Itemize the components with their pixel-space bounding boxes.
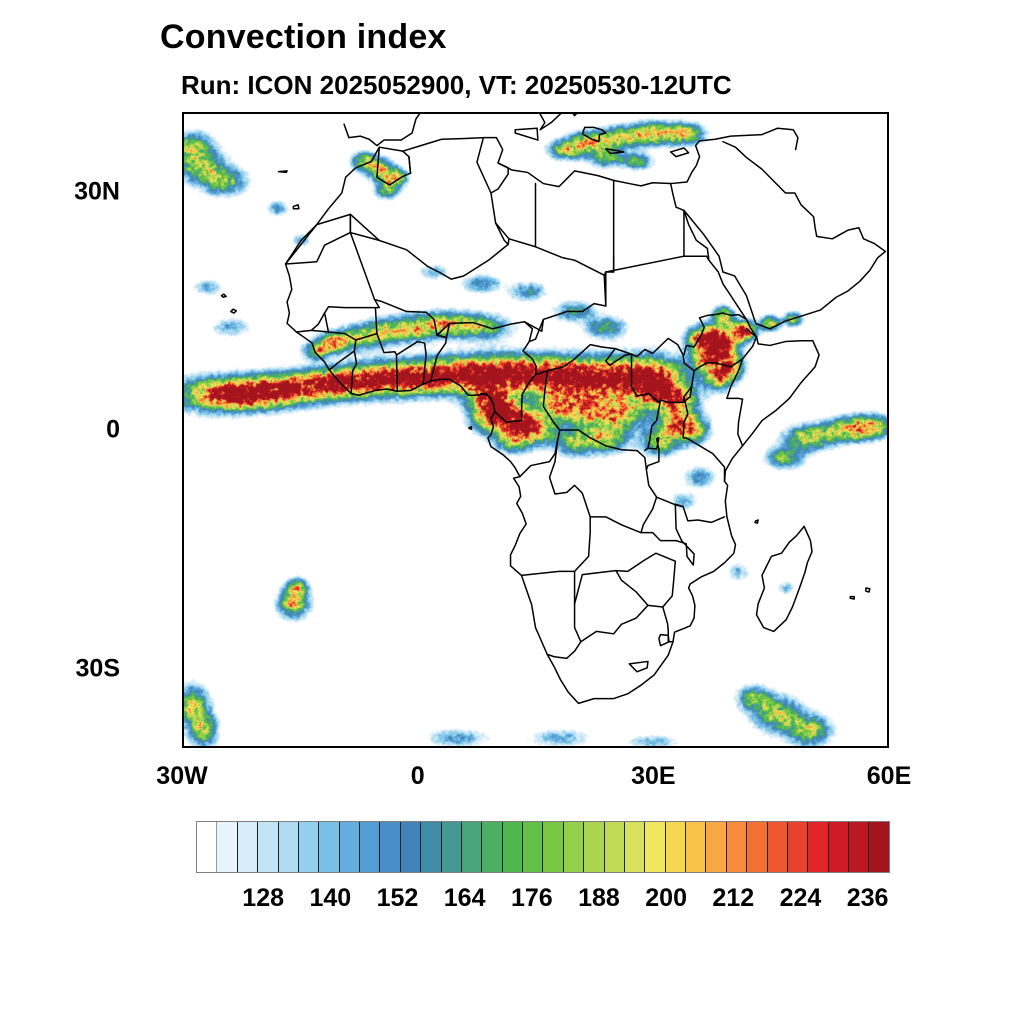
x-axis-label: 60E <box>867 762 911 791</box>
colorbar-cell <box>482 822 502 872</box>
y-major-tick <box>182 432 184 434</box>
y-minor-tick-right <box>887 512 889 514</box>
y-major-tick-right <box>887 671 889 673</box>
map-outline <box>575 571 616 604</box>
colorbar-cell <box>462 822 482 872</box>
map-outline <box>221 294 226 297</box>
y-axis-label: 0 <box>106 416 120 445</box>
map-outline <box>351 340 356 394</box>
x-minor-tick <box>263 746 265 748</box>
map-outline <box>481 394 487 395</box>
map-outline <box>606 149 624 154</box>
colorbar-cell <box>401 822 421 872</box>
chart-subtitle: Run: ICON 2025052900, VT: 20250530-12UTC <box>181 70 732 101</box>
y-major-tick <box>182 671 184 673</box>
x-minor-tick <box>341 746 343 748</box>
colorbar-cell <box>645 822 665 872</box>
colorbar-cell <box>217 822 237 872</box>
figure-root: Convection index Run: ICON 2025052900, V… <box>0 0 1024 1024</box>
x-major-tick <box>184 746 186 748</box>
map-outline <box>496 223 605 275</box>
colorbar-cell <box>421 822 441 872</box>
x-minor-tick-top <box>341 112 343 114</box>
y-axis-label: 30N <box>74 177 120 206</box>
colorbar-cell <box>380 822 400 872</box>
colorbar-cell <box>360 822 380 872</box>
map-outline <box>311 330 328 332</box>
x-major-tick <box>420 746 422 748</box>
x-minor-tick <box>577 746 579 748</box>
map-outline <box>520 371 560 477</box>
map-outline <box>325 313 377 340</box>
y-minor-tick-right <box>887 591 889 593</box>
map-outline <box>279 171 288 173</box>
y-axis-label: 30S <box>76 654 120 683</box>
colorbar <box>196 821 890 873</box>
colorbar-cell <box>686 822 706 872</box>
x-minor-tick <box>498 746 500 748</box>
y-minor-tick <box>182 591 184 593</box>
map-plot-area <box>182 112 889 748</box>
map-outline <box>684 142 885 329</box>
colorbar-cell <box>605 822 625 872</box>
colorbar-cell <box>238 822 258 872</box>
x-minor-tick-top <box>812 112 814 114</box>
x-minor-tick-top <box>734 112 736 114</box>
x-major-tick-top <box>655 112 657 114</box>
x-minor-tick <box>734 746 736 748</box>
y-minor-tick <box>182 273 184 275</box>
map-outline <box>671 148 689 157</box>
colorbar-cell <box>727 822 747 872</box>
map-outline <box>646 438 659 470</box>
map-outline <box>550 442 591 517</box>
country-borders-overlay <box>184 114 887 746</box>
y-major-tick-right <box>887 194 889 196</box>
map-outline <box>567 114 622 116</box>
colorbar-cell <box>340 822 360 872</box>
y-major-tick <box>182 194 184 196</box>
x-minor-tick <box>812 746 814 748</box>
colorbar-tick-label: 152 <box>377 884 419 913</box>
y-minor-tick <box>182 512 184 514</box>
map-outline <box>344 114 443 146</box>
colorbar-cell <box>849 822 869 872</box>
colorbar-cell <box>625 822 645 872</box>
map-outline <box>521 430 656 575</box>
map-outline <box>671 128 798 183</box>
y-minor-tick-right <box>887 353 889 355</box>
map-outline <box>641 533 676 541</box>
map-outline <box>683 397 724 482</box>
map-outline <box>700 313 747 319</box>
map-outline <box>850 597 854 599</box>
map-outline <box>606 256 707 272</box>
x-minor-tick-top <box>498 112 500 114</box>
x-axis-label: 30W <box>156 762 207 791</box>
map-outline <box>469 427 471 429</box>
colorbar-cell <box>584 822 604 872</box>
x-major-tick <box>655 746 657 748</box>
colorbar-tick-label: 140 <box>309 884 351 913</box>
colorbar-cell <box>503 822 523 872</box>
colorbar-cell <box>258 822 278 872</box>
colorbar-cell <box>523 822 543 872</box>
colorbar-tick-label: 200 <box>645 884 687 913</box>
colorbar-cell <box>319 822 339 872</box>
map-outline <box>616 553 675 607</box>
y-major-tick-right <box>887 432 889 434</box>
colorbar-tick-label: 128 <box>242 884 284 913</box>
map-outline <box>738 399 743 446</box>
map-outline <box>525 272 606 331</box>
map-outline <box>231 309 236 313</box>
colorbar-tick-label: 236 <box>847 884 889 913</box>
map-outline <box>515 128 538 140</box>
colorbar-cell <box>788 822 808 872</box>
y-minor-tick <box>182 353 184 355</box>
colorbar-tick-label: 164 <box>444 884 486 913</box>
map-outline <box>443 114 562 130</box>
map-outline <box>866 588 870 592</box>
map-outline <box>396 342 426 385</box>
map-outline <box>377 147 411 185</box>
colorbar-tick-label: 188 <box>578 884 620 913</box>
colorbar-tick-label: 224 <box>780 884 822 913</box>
map-outline <box>606 338 694 402</box>
colorbar-cell <box>279 822 299 872</box>
map-outline <box>375 308 397 391</box>
colorbar-cell <box>768 822 788 872</box>
map-outline <box>409 157 411 174</box>
colorbar-tick-label: 212 <box>712 884 754 913</box>
x-minor-tick-top <box>577 112 579 114</box>
colorbar-cell <box>666 822 686 872</box>
map-outline <box>508 239 509 245</box>
map-outline <box>629 661 648 671</box>
map-outline <box>329 351 354 370</box>
x-major-tick-top <box>420 112 422 114</box>
map-outline <box>582 127 605 141</box>
x-minor-tick-top <box>263 112 265 114</box>
map-outline <box>350 138 508 279</box>
colorbar-cell <box>869 822 888 872</box>
colorbar-tick-label: 176 <box>511 884 553 913</box>
map-outline <box>606 256 614 272</box>
chart-title: Convection index <box>160 18 447 57</box>
map-outline <box>684 318 704 355</box>
x-major-tick-top <box>184 112 186 114</box>
map-outline <box>296 233 379 332</box>
map-outline <box>547 571 581 658</box>
map-outline <box>375 300 447 381</box>
colorbar-cell <box>442 822 462 872</box>
map-outline <box>293 205 298 209</box>
colorbar-cell <box>299 822 319 872</box>
y-minor-tick-right <box>887 273 889 275</box>
x-axis-label: 30E <box>631 762 675 791</box>
colorbar-cell <box>829 822 849 872</box>
map-outline <box>437 335 446 337</box>
x-axis-label: 0 <box>411 762 425 791</box>
colorbar-cell <box>706 822 726 872</box>
map-outline <box>581 605 648 641</box>
colorbar-cell <box>564 822 584 872</box>
colorbar-cell <box>808 822 828 872</box>
map-outline <box>757 526 812 631</box>
map-outline <box>694 337 756 371</box>
colorbar-cell <box>197 822 217 872</box>
colorbar-cell <box>747 822 767 872</box>
map-outline <box>755 520 758 523</box>
map-outline <box>657 497 725 522</box>
map-outline <box>437 322 536 422</box>
colorbar-cell <box>543 822 563 872</box>
